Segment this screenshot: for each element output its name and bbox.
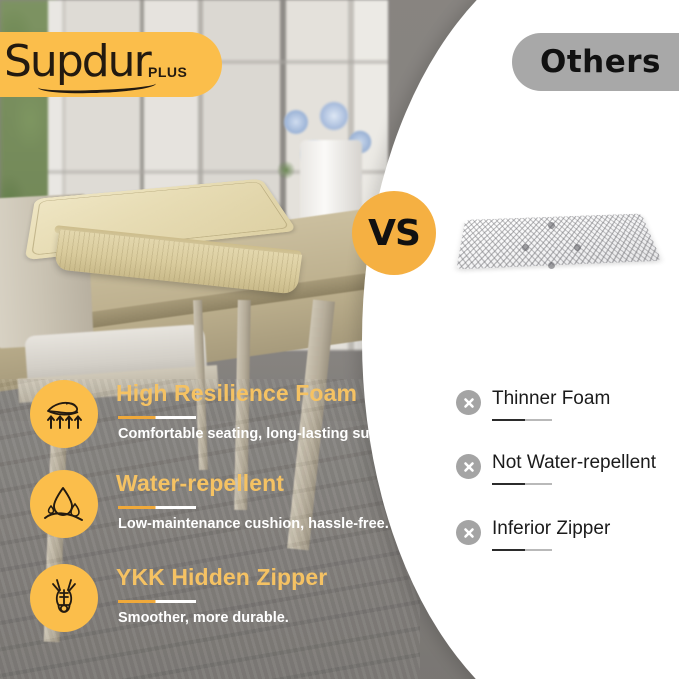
feature-item-water-repellent: Water-repellent Low-maintenance cushion,… — [30, 468, 375, 542]
feature-subtitle: Smoother, more durable. — [118, 610, 289, 626]
con-underline — [492, 419, 552, 421]
con-underline — [492, 483, 552, 485]
vs-label: VS — [368, 213, 420, 254]
vs-badge: VS — [352, 191, 436, 275]
feature-item-ykk-hidden-zipper: YKK Hidden Zipper Smoother, more durable… — [30, 562, 375, 636]
others-pill: Others — [512, 33, 679, 91]
comparison-infographic: Supdur PLUS Others VS — [0, 0, 679, 679]
con-item-inferior-zipper: Inferior Zipper — [456, 518, 678, 564]
zipper-icon — [30, 564, 98, 632]
con-label: Not Water-repellent — [492, 452, 656, 474]
product-cushion-image — [34, 168, 324, 288]
x-circle-icon — [456, 390, 481, 415]
feature-underline — [118, 600, 196, 603]
competitor-cushion-body — [456, 214, 661, 270]
feature-title: YKK Hidden Zipper — [116, 564, 327, 591]
x-circle-icon — [456, 520, 481, 545]
feature-subtitle: Low-maintenance cushion, hassle-free. — [118, 516, 389, 532]
tuft-point — [548, 262, 555, 269]
brand-suffix: PLUS — [148, 64, 187, 80]
tuft-point — [548, 222, 555, 229]
feature-item-high-resilience-foam: High Resilience Foam Comfortable seating… — [30, 378, 375, 452]
x-circle-icon — [456, 454, 481, 479]
competitor-cushion-image — [462, 196, 672, 304]
feature-title: Water-repellent — [116, 470, 284, 497]
feature-underline — [118, 416, 196, 419]
feature-title: High Resilience Foam — [116, 380, 357, 407]
brand-logo-pill: Supdur PLUS — [0, 32, 222, 97]
tuft-point — [522, 244, 529, 251]
feature-underline — [118, 506, 196, 509]
con-item-thinner-foam: Thinner Foam — [456, 388, 678, 434]
water-droplet-repellent-icon — [30, 470, 98, 538]
tuft-point — [574, 244, 581, 251]
con-item-not-water-repellent: Not Water-repellent — [456, 452, 678, 498]
feature-subtitle: Comfortable seating, long-lasting suppor… — [118, 426, 410, 442]
con-underline — [492, 549, 552, 551]
con-label: Inferior Zipper — [492, 518, 610, 540]
high-resilience-foam-icon — [30, 380, 98, 448]
others-label: Others — [540, 44, 661, 80]
con-label: Thinner Foam — [492, 388, 610, 410]
